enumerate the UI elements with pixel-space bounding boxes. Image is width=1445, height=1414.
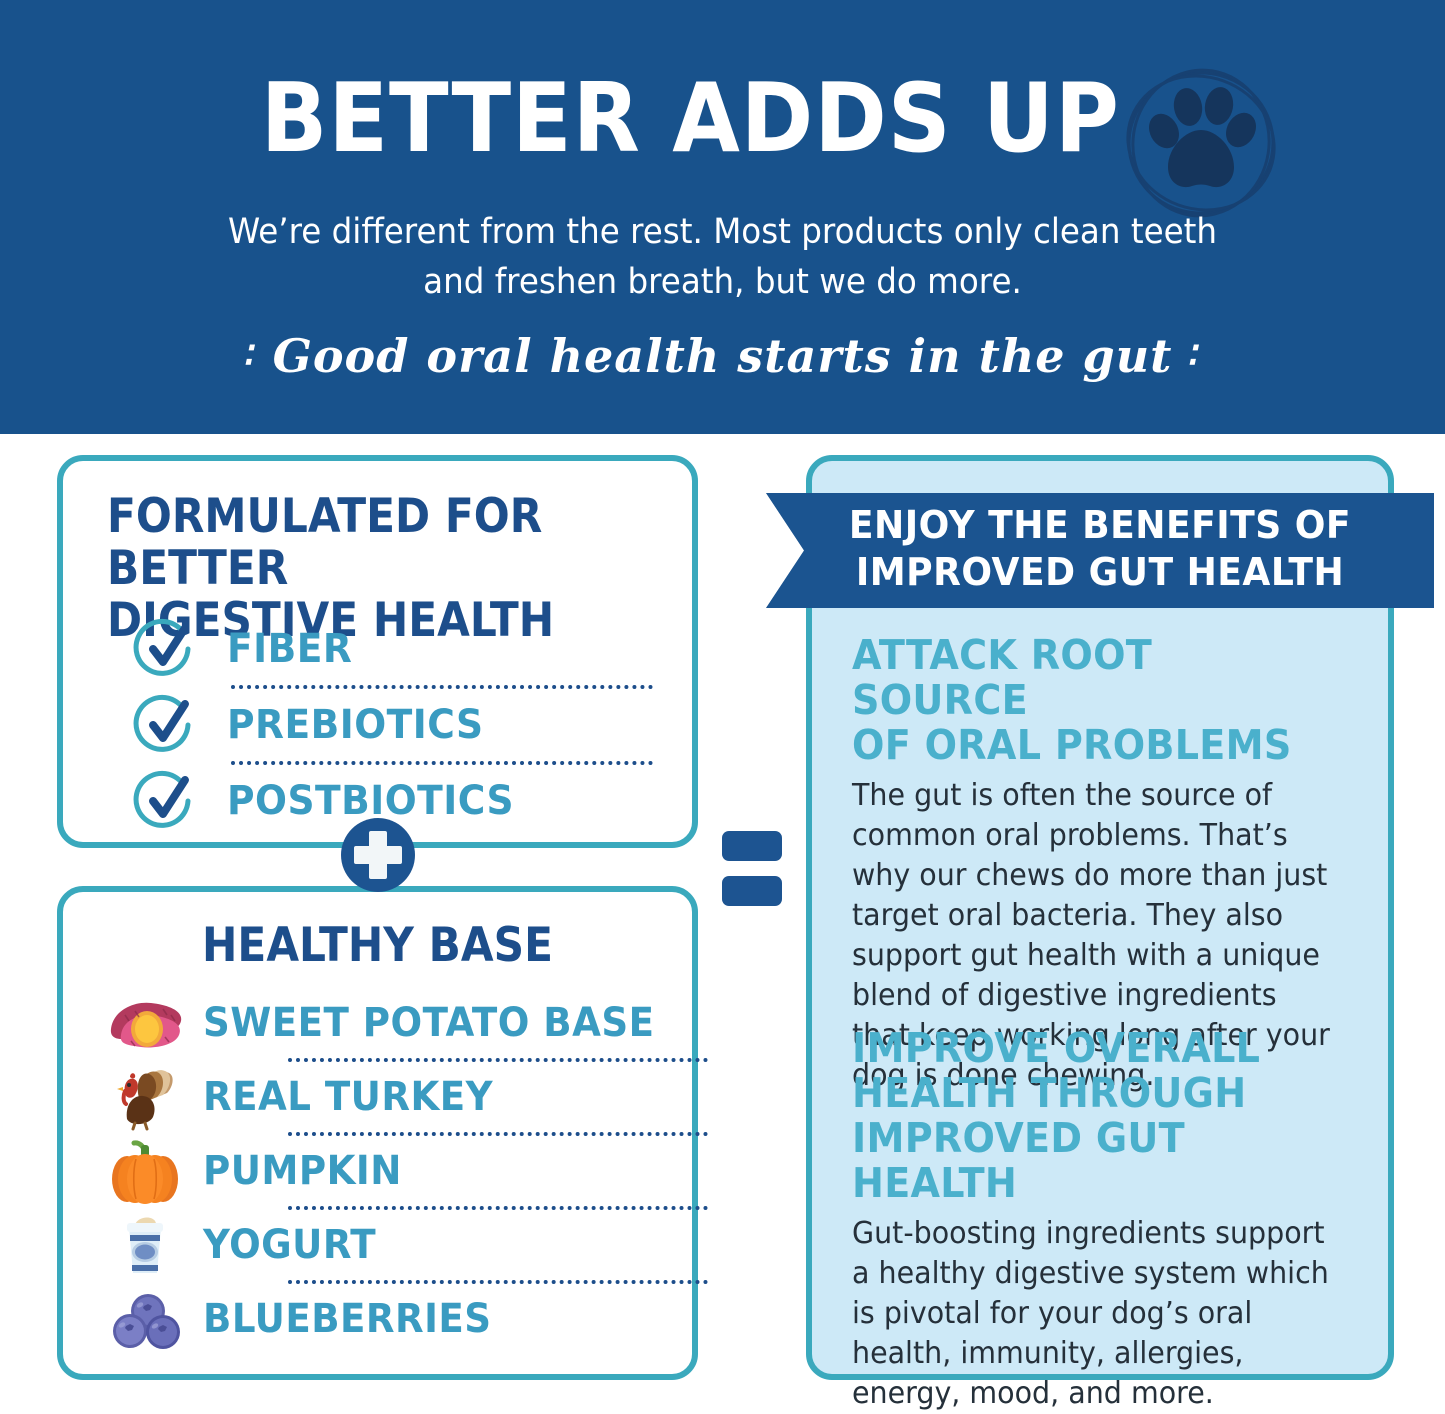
benefit-heading-line1: IMPROVE OVERALL [852,1026,1331,1071]
formulated-checklist: FIBER PREBIOTICS POSTBIOTICS [133,613,693,837]
banner-title: ENJOY THE BENEFITS OF IMPROVED GUT HEALT… [783,502,1418,596]
check-circle-icon [133,618,195,680]
formulated-card: FORMULATED FOR BETTER DIGESTIVE HEALTH F… [57,455,698,848]
healthy-base-card-title: HEALTHY BASE [94,920,660,972]
check-circle-icon [133,770,195,832]
list-item-label: BLUEBERRIES [203,1297,492,1341]
list-item-label: POSTBIOTICS [227,779,514,823]
list-item-label: PUMPKIN [203,1149,402,1193]
benefit-heading: IMPROVE OVERALL HEALTH THROUGH IMPROVED … [852,1026,1331,1206]
list-item: POSTBIOTICS [133,765,693,837]
plus-icon [341,818,415,892]
list-item-label: YOGURT [203,1223,376,1267]
list-item-label: FIBER [227,627,352,671]
benefit-heading-line2: OF ORAL PROBLEMS [852,723,1331,768]
header-subtitle-line1: We’re different from the rest. Most prod… [51,207,1395,257]
sweet-potato-icon [103,989,189,1057]
list-item: REAL TURKEY [103,1062,678,1132]
blueberries-icon [103,1285,189,1353]
benefit-body: Gut-boosting ingredients support a healt… [852,1214,1341,1414]
pumpkin-icon [103,1137,189,1205]
paw-print-icon [1120,62,1282,224]
list-item-label: REAL TURKEY [203,1075,493,1119]
healthy-base-card: HEALTHY BASE SWEET POTATO BASE [57,886,698,1380]
benefit-heading-line2: HEALTH THROUGH [852,1071,1331,1116]
turkey-icon [103,1063,189,1131]
tagline-deco-left: ∶ [239,328,262,384]
benefit-heading: ATTACK ROOT SOURCE OF ORAL PROBLEMS [852,633,1331,768]
list-item-label: SWEET POTATO BASE [203,1001,654,1045]
list-item: YOGURT [103,1210,678,1280]
tagline-deco-right: ∶ [1183,328,1206,384]
formulated-title-line1: FORMULATED FOR BETTER [107,491,683,595]
benefit-heading-line1: ATTACK ROOT SOURCE [852,633,1331,723]
ingredient-list: SWEET POTATO BASE [103,988,678,1354]
benefit-heading-line3: IMPROVED GUT HEALTH [852,1116,1331,1206]
banner-title-line2: IMPROVED GUT HEALTH [783,549,1418,596]
header-tagline-text: Good oral health starts in the gut [273,329,1173,383]
header-subtitle-line2: and freshen breath, but we do more. [51,257,1395,307]
benefit-block: IMPROVE OVERALL HEALTH THROUGH IMPROVED … [852,1026,1367,1414]
header-subtitle: We’re different from the rest. Most prod… [51,207,1395,307]
check-circle-icon [133,694,195,756]
benefits-banner: ENJOY THE BENEFITS OF IMPROVED GUT HEALT… [766,493,1434,608]
list-item: PREBIOTICS [133,689,693,761]
list-item: SWEET POTATO BASE [103,988,678,1058]
header-tagline: ∶ Good oral health starts in the gut ∶ [0,328,1445,384]
list-item: FIBER [133,613,693,685]
header-banner: BETTER ADDS UP We’re different from the … [0,0,1445,434]
list-item-label: PREBIOTICS [227,703,484,747]
list-item: BLUEBERRIES [103,1284,678,1354]
banner-title-line1: ENJOY THE BENEFITS OF [783,502,1418,549]
yogurt-icon [103,1211,189,1279]
list-item: PUMPKIN [103,1136,678,1206]
connector-tab-top [722,831,782,861]
connector-tab-bottom [722,876,782,906]
